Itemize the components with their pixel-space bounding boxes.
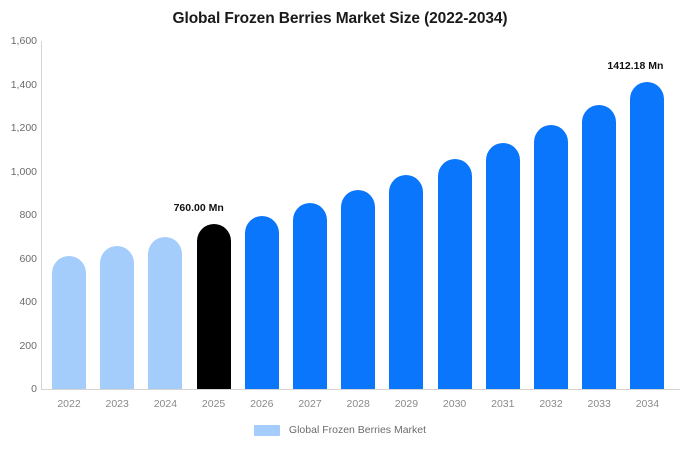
- y-axis-tick-label: 800: [3, 209, 37, 221]
- bar-group[interactable]: [389, 41, 423, 389]
- bar-2024[interactable]: [148, 237, 182, 389]
- y-axis-tick-label: 1,000: [3, 166, 37, 178]
- y-axis-tick-label: 1,600: [3, 35, 37, 47]
- bar-value-label-2025: 760.00 Mn: [174, 202, 224, 214]
- bar-2029[interactable]: [389, 175, 423, 389]
- y-axis-tick-labels: 1,6001,4001,2001,0008006004002000: [0, 0, 37, 450]
- legend-label-global-frozen-berries-market: Global Frozen Berries Market: [289, 424, 426, 436]
- bar-2023[interactable]: [100, 246, 134, 389]
- bar-2030[interactable]: [438, 159, 472, 389]
- chart-container: Global Frozen Berries Market Size (2022-…: [0, 0, 680, 450]
- bar-2027[interactable]: [293, 203, 327, 389]
- bar-2028[interactable]: [341, 190, 375, 389]
- bar-2025[interactable]: [197, 224, 231, 389]
- y-axis-tick-label: 1,200: [3, 122, 37, 134]
- bar-2034[interactable]: [630, 82, 664, 389]
- plot-area: [41, 41, 680, 389]
- bar-group[interactable]: [52, 41, 86, 389]
- y-axis-tick-label: 400: [3, 296, 37, 308]
- legend-swatch-global-frozen-berries-market: [254, 425, 280, 436]
- bar-group[interactable]: [100, 41, 134, 389]
- bar-2031[interactable]: [486, 143, 520, 389]
- bar-group[interactable]: [148, 41, 182, 389]
- bar-group[interactable]: [197, 41, 231, 389]
- x-axis-line: [41, 389, 680, 390]
- x-axis-tick-label-2034: 2034: [617, 398, 677, 410]
- bar-group[interactable]: [293, 41, 327, 389]
- y-axis-tick-label: 600: [3, 253, 37, 265]
- bar-group[interactable]: [486, 41, 520, 389]
- y-axis-tick-label: 200: [3, 340, 37, 352]
- bar-group[interactable]: [341, 41, 375, 389]
- y-axis-tick-label: 1,400: [3, 79, 37, 91]
- bar-group[interactable]: [245, 41, 279, 389]
- bar-group[interactable]: [630, 41, 664, 389]
- bar-2026[interactable]: [245, 216, 279, 389]
- bar-2022[interactable]: [52, 256, 86, 389]
- bar-group[interactable]: [438, 41, 472, 389]
- bar-2033[interactable]: [582, 105, 616, 389]
- bar-group[interactable]: [582, 41, 616, 389]
- chart-legend: Global Frozen Berries Market: [0, 424, 680, 436]
- bar-value-label-2034: 1412.18 Mn: [607, 60, 663, 72]
- y-axis-tick-label: 0: [3, 383, 37, 395]
- bar-2032[interactable]: [534, 125, 568, 389]
- bar-group[interactable]: [534, 41, 568, 389]
- chart-title: Global Frozen Berries Market Size (2022-…: [0, 10, 680, 28]
